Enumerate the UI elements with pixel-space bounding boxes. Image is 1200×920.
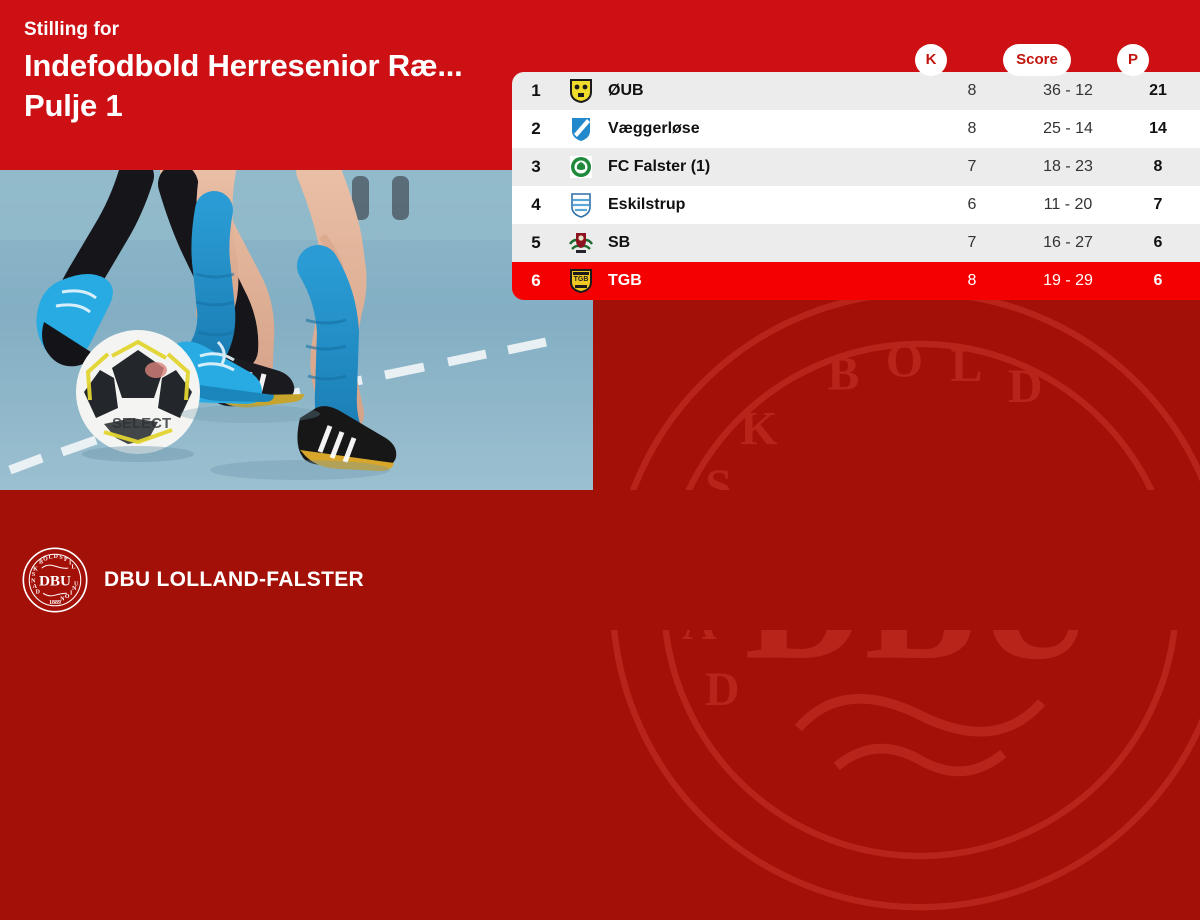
row-k: 8 [924, 120, 1020, 138]
svg-text:D: D [705, 663, 740, 716]
svg-text:L: L [951, 339, 983, 392]
svg-text:O: O [886, 335, 923, 388]
column-header-p[interactable]: P [1117, 44, 1149, 76]
row-points: 6 [1116, 234, 1200, 252]
row-k: 8 [924, 82, 1020, 100]
svg-text:S: S [32, 572, 36, 578]
svg-text:O: O [43, 556, 48, 562]
row-team: FC Falster (1) [602, 158, 924, 176]
table-row[interactable]: 1 ØUB 8 36 - 12 21 [512, 72, 1200, 110]
svg-text:SELECT: SELECT [112, 415, 171, 432]
row-rank: 6 [512, 271, 560, 291]
row-k: 6 [924, 196, 1020, 214]
svg-text:D: D [36, 589, 40, 595]
svg-text:K: K [740, 402, 777, 455]
svg-text:O: O [65, 594, 70, 600]
svg-text:D: D [1008, 360, 1043, 413]
fc-falster-crest-icon [560, 154, 602, 180]
svg-text:B: B [827, 348, 859, 401]
svg-text:K: K [33, 566, 38, 572]
svg-text:N: N [72, 586, 77, 592]
row-rank: 3 [512, 157, 560, 177]
svg-text:DBU: DBU [39, 572, 71, 589]
row-score: 11 - 20 [1020, 196, 1116, 214]
svg-text:L: L [71, 564, 75, 570]
page-footer: D A N S K B O L D S P I L U N I O [0, 490, 1200, 630]
page-title-line2: Pulje 1 [24, 86, 544, 126]
footer-org-name: DBU LOLLAND-FALSTER [104, 568, 364, 592]
standings-table: 1 ØUB 8 36 - 12 21 2 Væggerløse 8 25 - 1… [512, 72, 1200, 300]
row-score: 19 - 29 [1020, 272, 1116, 290]
header-kicker: Stilling for [24, 18, 544, 42]
svg-text:D: D [54, 554, 58, 560]
row-team: Eskilstrup [602, 196, 924, 214]
row-rank: 4 [512, 195, 560, 215]
column-header-score[interactable]: Score [1003, 44, 1071, 76]
row-team: TGB [602, 272, 924, 290]
table-row[interactable]: 2 Væggerløse 8 25 - 14 14 [512, 110, 1200, 148]
row-k: 8 [924, 272, 1020, 290]
svg-text:P: P [64, 557, 68, 563]
table-row[interactable]: 5 SB 7 16 - 27 6 [512, 224, 1200, 262]
row-score: 25 - 14 [1020, 120, 1116, 138]
table-row[interactable]: 3 FC Falster (1) 7 18 - 23 8 [512, 148, 1200, 186]
table-row[interactable]: 6 TGB TGB 8 19 - 29 6 [512, 262, 1200, 300]
table-row[interactable]: 4 Eskilstrup 6 11 - 20 7 [512, 186, 1200, 224]
page-title: Indefodbold Herresenior Ræ... [24, 46, 544, 86]
row-k: 7 [924, 158, 1020, 176]
oub-crest-icon [560, 78, 602, 104]
row-points: 7 [1116, 196, 1200, 214]
row-points: 14 [1116, 120, 1200, 138]
row-points: 8 [1116, 158, 1200, 176]
row-team: ØUB [602, 82, 924, 100]
dbu-logo-icon: D A N S K B O L D S P I L U N I O [22, 547, 88, 613]
vaeggerloese-crest-icon [560, 116, 602, 142]
page-header: Stilling for Indefodbold Herresenior Ræ.… [24, 18, 544, 126]
column-header-k[interactable]: K [915, 44, 947, 76]
tgb-crest-icon: TGB [560, 268, 602, 294]
row-points: 6 [1116, 272, 1200, 290]
svg-text:A: A [33, 584, 38, 590]
svg-text:L: L [48, 555, 52, 561]
svg-text:B: B [39, 559, 43, 565]
row-k: 7 [924, 234, 1020, 252]
row-score: 18 - 23 [1020, 158, 1116, 176]
hero-photo: SELECT [0, 170, 593, 490]
row-team: SB [602, 234, 924, 252]
svg-text:1889: 1889 [49, 600, 61, 606]
row-score: 36 - 12 [1020, 82, 1116, 100]
sb-crest-icon [560, 230, 602, 256]
row-rank: 5 [512, 233, 560, 253]
svg-text:N: N [31, 578, 36, 584]
row-score: 16 - 27 [1020, 234, 1116, 252]
svg-text:TGB: TGB [574, 276, 589, 283]
row-team: Væggerløse [602, 120, 924, 138]
row-points: 21 [1116, 82, 1200, 100]
eskilstrup-crest-icon [560, 192, 602, 218]
svg-text:N: N [60, 596, 65, 602]
